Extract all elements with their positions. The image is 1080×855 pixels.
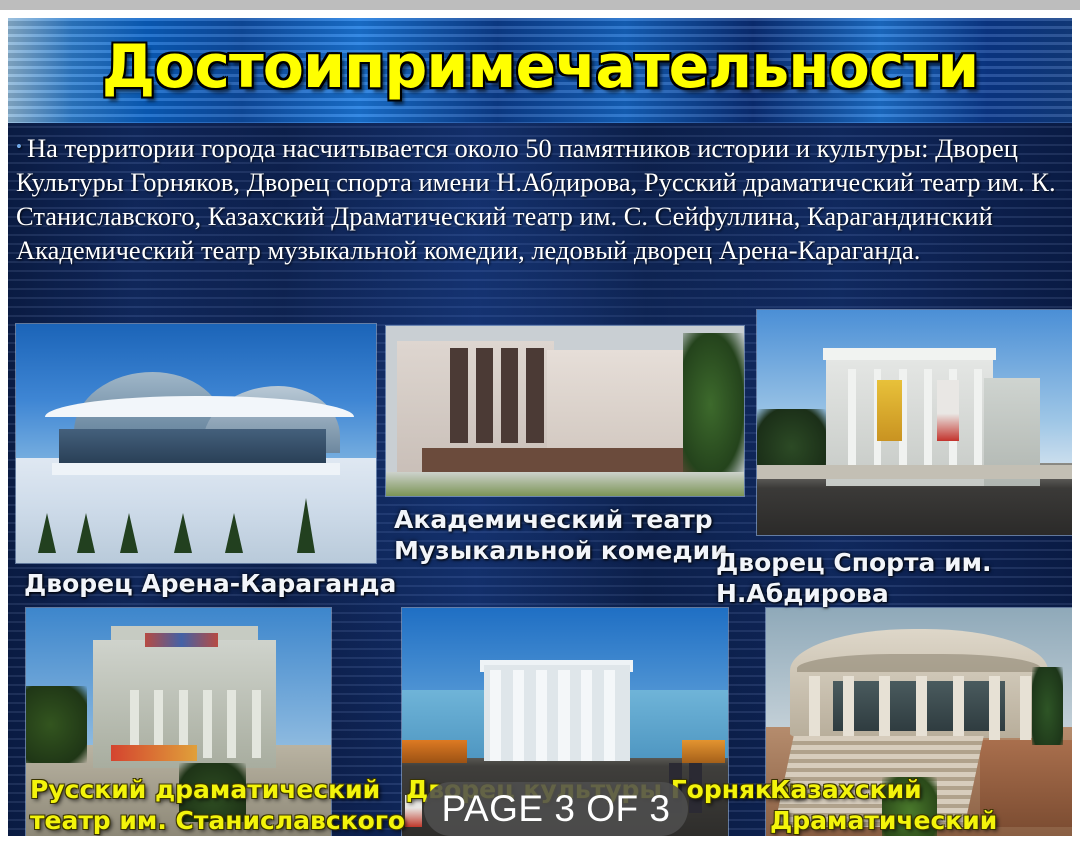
column <box>924 369 932 468</box>
column <box>252 690 261 758</box>
column <box>604 670 615 761</box>
fir-tree-icon <box>38 513 56 553</box>
top-chrome-bar <box>0 0 1080 10</box>
body-paragraph: •На территории города насчитывается окол… <box>16 130 1066 267</box>
column <box>536 670 547 761</box>
photo-sports-palace-abdirov <box>757 310 1072 535</box>
column <box>581 670 592 761</box>
column <box>203 690 212 758</box>
roof-sign <box>145 633 218 647</box>
body-paragraph-text: На территории города насчитывается около… <box>16 133 1056 265</box>
column <box>843 676 854 740</box>
screenshot-root: Достоипримечательности •На территории го… <box>0 0 1080 855</box>
fir-tree-icon <box>77 513 95 553</box>
column <box>1020 676 1031 740</box>
fir-tree-icon <box>1032 667 1063 745</box>
photo-arena-karaganda <box>16 324 376 563</box>
tree-icon <box>683 333 744 476</box>
title-banner: Достоипримечательности <box>8 18 1072 123</box>
caption-musical-comedy-theatre: Академический театр Музыкальной комедии <box>394 504 728 566</box>
column <box>848 369 856 468</box>
theatre-frieze <box>797 654 1042 672</box>
photo-foreground-lawn <box>386 472 744 496</box>
bullet-icon: • <box>16 137 22 156</box>
window-strip <box>476 348 494 443</box>
poster-banner-yellow <box>877 380 902 441</box>
theatre-entrance-arcade <box>422 448 701 472</box>
fir-tree-icon <box>297 498 315 553</box>
tree-icon <box>757 409 826 472</box>
poster-banner-red <box>937 380 959 441</box>
page-indicator-overlay: PAGE 3 OF 3 <box>424 782 688 836</box>
column <box>879 676 890 740</box>
column <box>916 676 927 740</box>
caption-russian-drama-theatre: Русский драматический театр им. Станисла… <box>30 774 405 836</box>
column <box>227 690 236 758</box>
window-strip <box>501 348 519 443</box>
fir-tree-icon <box>120 513 138 553</box>
photo-musical-comedy-theatre <box>386 326 744 496</box>
fir-tree-icon <box>225 513 243 553</box>
street-curb <box>757 465 1072 479</box>
column <box>490 670 501 761</box>
building-cornice <box>823 348 996 359</box>
tram-vehicle <box>402 740 467 763</box>
caption-arena-karaganda: Дворец Арена-Караганда <box>24 568 396 599</box>
entrance-marquee <box>111 745 196 761</box>
tree-icon <box>26 686 87 764</box>
page-indicator-label: PAGE 3 OF 3 <box>442 788 671 830</box>
caption-sports-palace-abdirov: Дворец Спорта им. Н.Абдирова <box>716 547 1072 609</box>
column <box>989 676 1000 740</box>
caption-kazakh-drama-theatre: Казахский Драматический театр им. С.Сейф… <box>770 774 1072 836</box>
column <box>974 369 982 468</box>
column <box>809 676 820 740</box>
tram-vehicle <box>682 740 724 763</box>
column <box>513 670 524 761</box>
fir-tree-icon <box>174 513 192 553</box>
column <box>953 676 964 740</box>
page-title: Достоипримечательности <box>8 32 1072 102</box>
window-strip <box>526 348 544 443</box>
column <box>558 670 569 761</box>
arena-base <box>52 463 340 475</box>
window-strip <box>450 348 468 443</box>
slide-frame: Достоипримечательности •На территории го… <box>8 18 1072 836</box>
